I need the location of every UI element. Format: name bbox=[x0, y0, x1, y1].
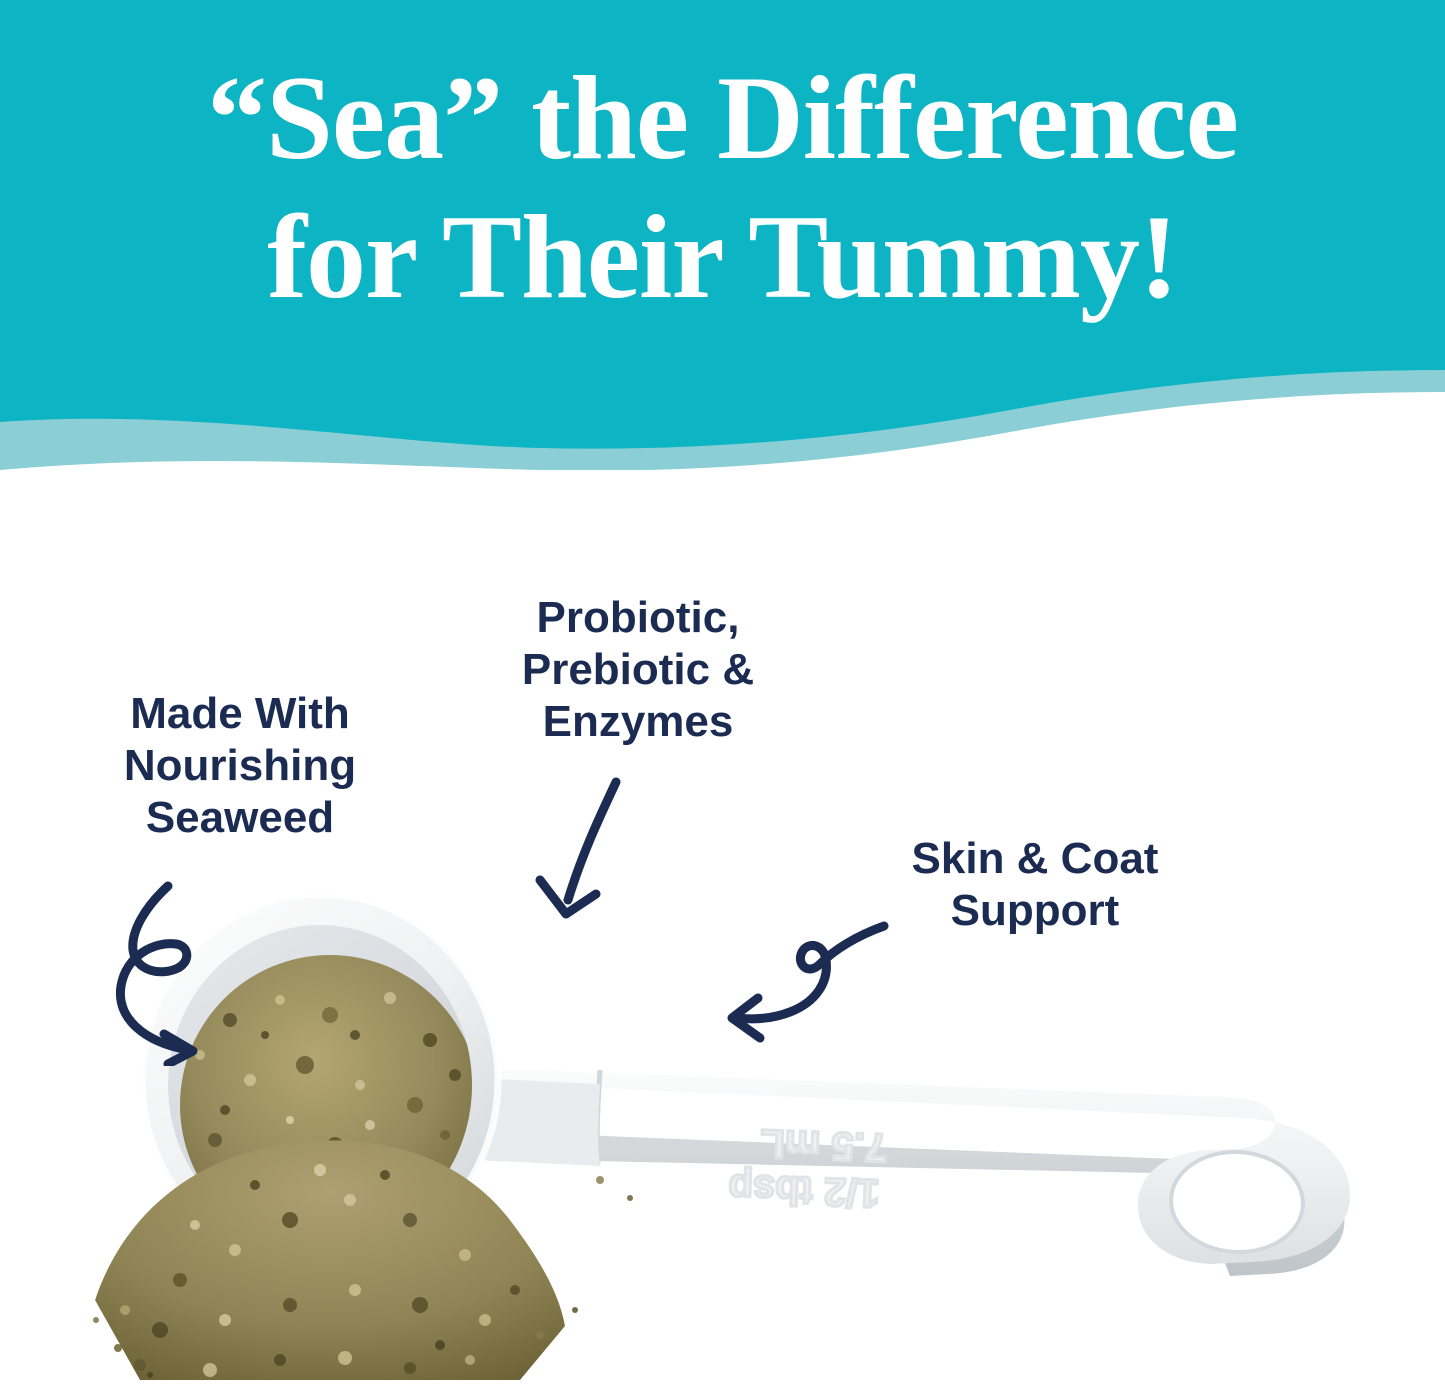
callout-probiotic-line-1: Probiotic, bbox=[438, 592, 838, 644]
callout-seaweed-line-2: Nourishing bbox=[60, 740, 420, 792]
callout-skincoat-line-1: Skin & Coat bbox=[845, 833, 1225, 885]
handle-embossed-text: 1/2 tbsp 7.5 mL bbox=[728, 1120, 888, 1215]
callout-seaweed-line-3: Seaweed bbox=[60, 792, 420, 844]
product-photo-measuring-spoon: 1/2 tbsp 7.5 mL bbox=[0, 880, 1445, 1396]
promo-image-canvas: “Sea” the Difference for Their Tummy! bbox=[0, 0, 1445, 1396]
header-wave-graphic bbox=[0, 0, 1445, 470]
callout-made-with-nourishing-seaweed: Made With Nourishing Seaweed bbox=[60, 688, 420, 844]
header-banner: “Sea” the Difference for Their Tummy! bbox=[0, 0, 1445, 470]
callout-seaweed-line-1: Made With bbox=[60, 688, 420, 740]
spoon-handle: 1/2 tbsp 7.5 mL bbox=[428, 1066, 1350, 1276]
callout-probiotic-line-2: Prebiotic & bbox=[438, 644, 838, 696]
handle-embossed-line-2: 7.5 mL bbox=[760, 1121, 888, 1169]
spoon-illustration: 1/2 tbsp 7.5 mL bbox=[0, 880, 1445, 1396]
callout-skincoat-line-2: Support bbox=[845, 885, 1225, 937]
callout-probiotic-line-3: Enzymes bbox=[438, 696, 838, 748]
callout-skin-and-coat-support: Skin & Coat Support bbox=[845, 833, 1225, 937]
handle-embossed-line-1: 1/2 tbsp bbox=[728, 1166, 881, 1215]
callout-probiotic-prebiotic-enzymes: Probiotic, Prebiotic & Enzymes bbox=[438, 592, 838, 748]
